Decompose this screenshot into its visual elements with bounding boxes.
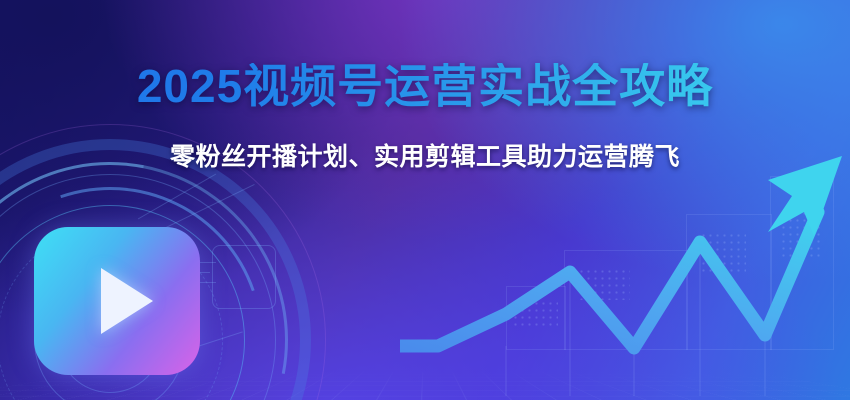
- circuit-block-1: [212, 245, 276, 309]
- banner-subtitle: 零粉丝开播计划、实用剪辑工具助力运营腾飞: [0, 137, 850, 173]
- chart-line: [400, 212, 818, 348]
- banner-title: 2025视频号运营实战全攻略: [0, 63, 850, 109]
- play-button[interactable]: [34, 227, 200, 375]
- play-button-inner: [41, 234, 193, 368]
- growth-chart: [400, 150, 850, 400]
- video-course-banner: 2025视频号运营实战全攻略 零粉丝开播计划、实用剪辑工具助力运营腾飞: [0, 0, 850, 400]
- circuit-line-6: [138, 174, 216, 220]
- play-icon: [101, 268, 153, 334]
- chart-drop-lines: [506, 242, 765, 396]
- circuit-line-5: [155, 184, 254, 233]
